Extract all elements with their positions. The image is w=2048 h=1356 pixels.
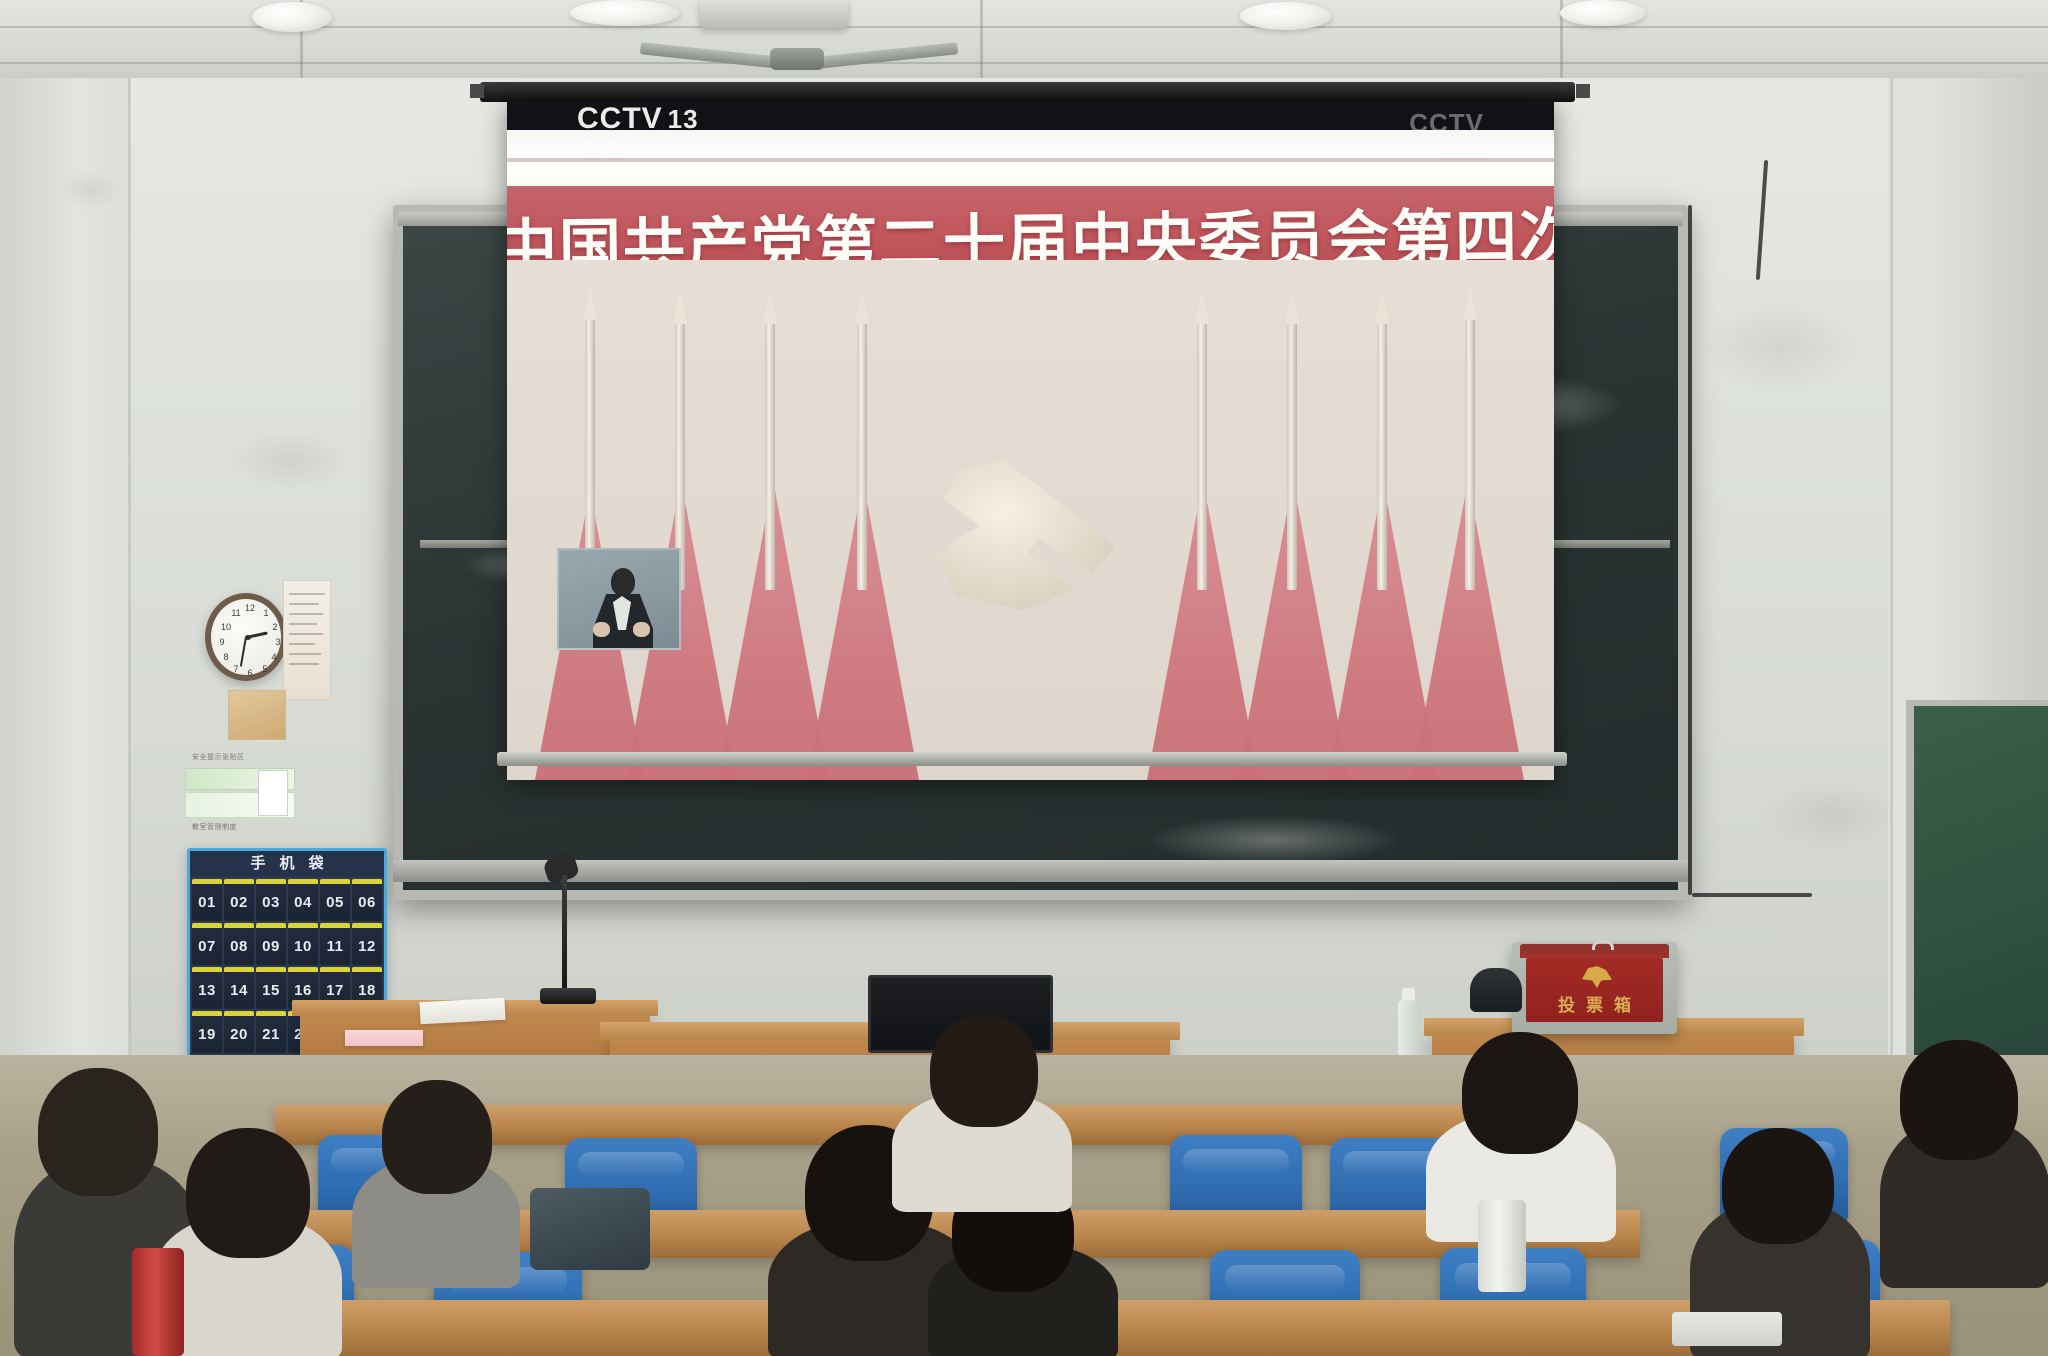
phone-pocket[interactable]: 05 — [320, 879, 350, 921]
paper-sheet[interactable] — [419, 998, 505, 1024]
poster-text-line — [289, 633, 323, 635]
national-emblem-icon — [1582, 966, 1612, 988]
backpack[interactable] — [530, 1188, 650, 1270]
flagpole — [1287, 322, 1297, 590]
cctv-channel-subtitle: 新闻 — [585, 136, 623, 157]
projection-screen: 中国共产党第二十届中央委员会第四次全 CCTV13 新闻 CCTV 央视网 — [507, 100, 1554, 780]
phone-pocket[interactable]: 13 — [192, 967, 222, 1009]
clock-number: 6 — [244, 668, 256, 678]
wall-seam — [1890, 78, 1893, 1078]
phone-pocket[interactable]: 21 — [256, 1011, 286, 1053]
clock-number: 2 — [269, 622, 281, 632]
flagpole-tip — [1375, 290, 1389, 324]
ceiling-light — [1560, 0, 1646, 26]
wall-stain — [60, 170, 120, 210]
phone-pocket[interactable]: 06 — [352, 879, 382, 921]
cctv-channel-logo: CCTV13 — [577, 102, 699, 136]
microphone-stand — [562, 875, 567, 995]
wall-poster — [283, 580, 331, 700]
flagpole-tip — [583, 286, 597, 320]
screen-bracket-left — [470, 84, 484, 98]
phone-pocket[interactable]: 04 — [288, 879, 318, 921]
chalk-ledge — [393, 860, 1688, 882]
phone-pocket[interactable]: 08 — [224, 923, 254, 965]
poster-text-line — [289, 623, 317, 625]
analog-wall-clock: 12 1 2 3 4 5 6 7 8 9 10 11 — [205, 593, 287, 681]
black-equipment-case — [1470, 968, 1522, 1012]
student-head — [930, 1015, 1038, 1127]
ceiling-light — [570, 0, 680, 26]
pip-hand-right — [633, 622, 650, 637]
pip-hand-left — [593, 622, 610, 637]
screen-bracket-right — [1576, 84, 1590, 98]
hammer-sickle-icon — [924, 460, 1124, 610]
cctv-watermark-subtitle: 央视网 — [1442, 140, 1490, 160]
phone-pocket[interactable]: 15 — [256, 967, 286, 1009]
broadcast-letterbox-hairline — [507, 158, 1554, 162]
flagpole-tip — [1463, 286, 1477, 320]
ballot-box-handle[interactable] — [1592, 940, 1614, 950]
ceiling-seam — [0, 62, 2048, 64]
poster-text-line — [289, 603, 319, 605]
sign-language-pip — [557, 548, 681, 650]
poster-text-line — [289, 643, 315, 645]
broadcast-title-band: 中国共产党第二十届中央委员会第四次全 — [507, 186, 1554, 264]
broadcast-video: 中国共产党第二十届中央委员会第四次全 CCTV13 新闻 CCTV 央视网 — [507, 100, 1554, 780]
student-head — [38, 1068, 158, 1196]
phone-pocket[interactable]: 14 — [224, 967, 254, 1009]
wall-notice-footer: 教室管理制度 — [192, 822, 237, 832]
ballot-box-face: 投票箱 — [1526, 958, 1663, 1022]
screen-roller[interactable] — [480, 82, 1575, 102]
water-bottle[interactable] — [132, 1248, 184, 1356]
ceiling-light — [252, 2, 332, 32]
phone-pocket[interactable]: 07 — [192, 923, 222, 965]
student-head — [1722, 1128, 1834, 1244]
wall-notice-small — [258, 770, 288, 816]
student-head — [186, 1128, 310, 1258]
wall-seam — [128, 78, 131, 1078]
wall-stain — [1700, 300, 1860, 390]
classroom-scene: 中国共产党第二十届中央委员会第四次全 CCTV13 新闻 CCTV 央视网 — [0, 0, 2048, 1356]
wall-picture — [228, 690, 286, 740]
student-head — [382, 1080, 492, 1194]
water-bottle[interactable] — [1478, 1200, 1526, 1292]
clock-number: 8 — [220, 652, 232, 662]
student-head — [1462, 1032, 1578, 1154]
chalk-smudge — [1143, 815, 1403, 865]
phone-pocket[interactable]: 03 — [256, 879, 286, 921]
ceiling-fan-hub — [770, 48, 824, 70]
screen-weight-bar — [497, 752, 1567, 766]
ballot-box-lid — [1520, 944, 1669, 958]
wall-stain — [230, 430, 350, 490]
flagpole-tip — [855, 290, 869, 324]
paper-sheet-pink[interactable] — [345, 1030, 423, 1046]
wall-stain — [1760, 780, 1900, 850]
clock-number: 9 — [216, 637, 228, 647]
phone-pocket[interactable]: 02 — [224, 879, 254, 921]
flagpole-tip — [673, 290, 687, 324]
poster-text-line — [289, 613, 323, 615]
wall-cable — [1692, 893, 1812, 897]
wall-cable — [1688, 205, 1692, 895]
flagpole — [1465, 318, 1475, 590]
pocket-chart-header: 手机袋 — [190, 851, 384, 877]
flagpole-tip — [1195, 290, 1209, 324]
cctv-watermark: CCTV — [1409, 108, 1484, 139]
student-head — [1900, 1040, 2018, 1160]
clock-minute-hand — [240, 637, 247, 667]
cctv-channel-number: 13 — [668, 104, 699, 134]
phone-pocket[interactable]: 19 — [192, 1011, 222, 1053]
ballot-box[interactable]: 投票箱 — [1512, 942, 1677, 1034]
ceiling-projector — [700, 0, 848, 28]
flagpole-tip — [763, 290, 777, 324]
phone-pocket[interactable]: 20 — [224, 1011, 254, 1053]
notebook[interactable] — [1672, 1312, 1782, 1346]
pip-person-head — [611, 568, 635, 596]
flagpole-tip — [1285, 290, 1299, 324]
microphone-base — [540, 988, 596, 1004]
poster-text-line — [289, 653, 321, 655]
flagpole — [857, 322, 867, 590]
clock-number: 1 — [260, 608, 272, 618]
phone-pocket[interactable]: 10 — [288, 923, 318, 965]
side-chalkboard — [1906, 700, 2048, 1080]
broadcast-stage-backdrop — [507, 260, 1554, 780]
clock-number: 11 — [230, 608, 242, 618]
clock-number: 4 — [268, 652, 280, 662]
ceiling-seam — [980, 0, 983, 78]
clock-center-pin — [245, 635, 251, 640]
party-emblem-icon — [906, 430, 1156, 650]
wall-left-return — [0, 78, 130, 1078]
flagpole — [765, 322, 775, 590]
poster-text-line — [289, 663, 319, 665]
hand-sanitizer-bottle[interactable] — [1398, 1000, 1420, 1058]
flagpole — [1377, 322, 1387, 590]
phone-pocket[interactable]: 12 — [352, 923, 382, 965]
phone-pocket[interactable]: 11 — [320, 923, 350, 965]
wall-notice-caption: 安全提示张贴区 — [192, 752, 245, 762]
clock-number: 12 — [244, 603, 256, 613]
broadcast-headline: 中国共产党第二十届中央委员会第四次全 — [507, 186, 1554, 264]
ceiling-light — [1240, 2, 1332, 30]
phone-pocket[interactable]: 01 — [192, 879, 222, 921]
phone-pocket[interactable]: 09 — [256, 923, 286, 965]
clock-number: 5 — [259, 664, 271, 674]
clock-number: 10 — [220, 622, 232, 632]
poster-text-line — [289, 593, 325, 595]
cctv-logo-text: CCTV — [577, 102, 663, 135]
flagpole — [1197, 322, 1207, 590]
ballot-box-label: 投票箱 — [1526, 991, 1663, 1016]
